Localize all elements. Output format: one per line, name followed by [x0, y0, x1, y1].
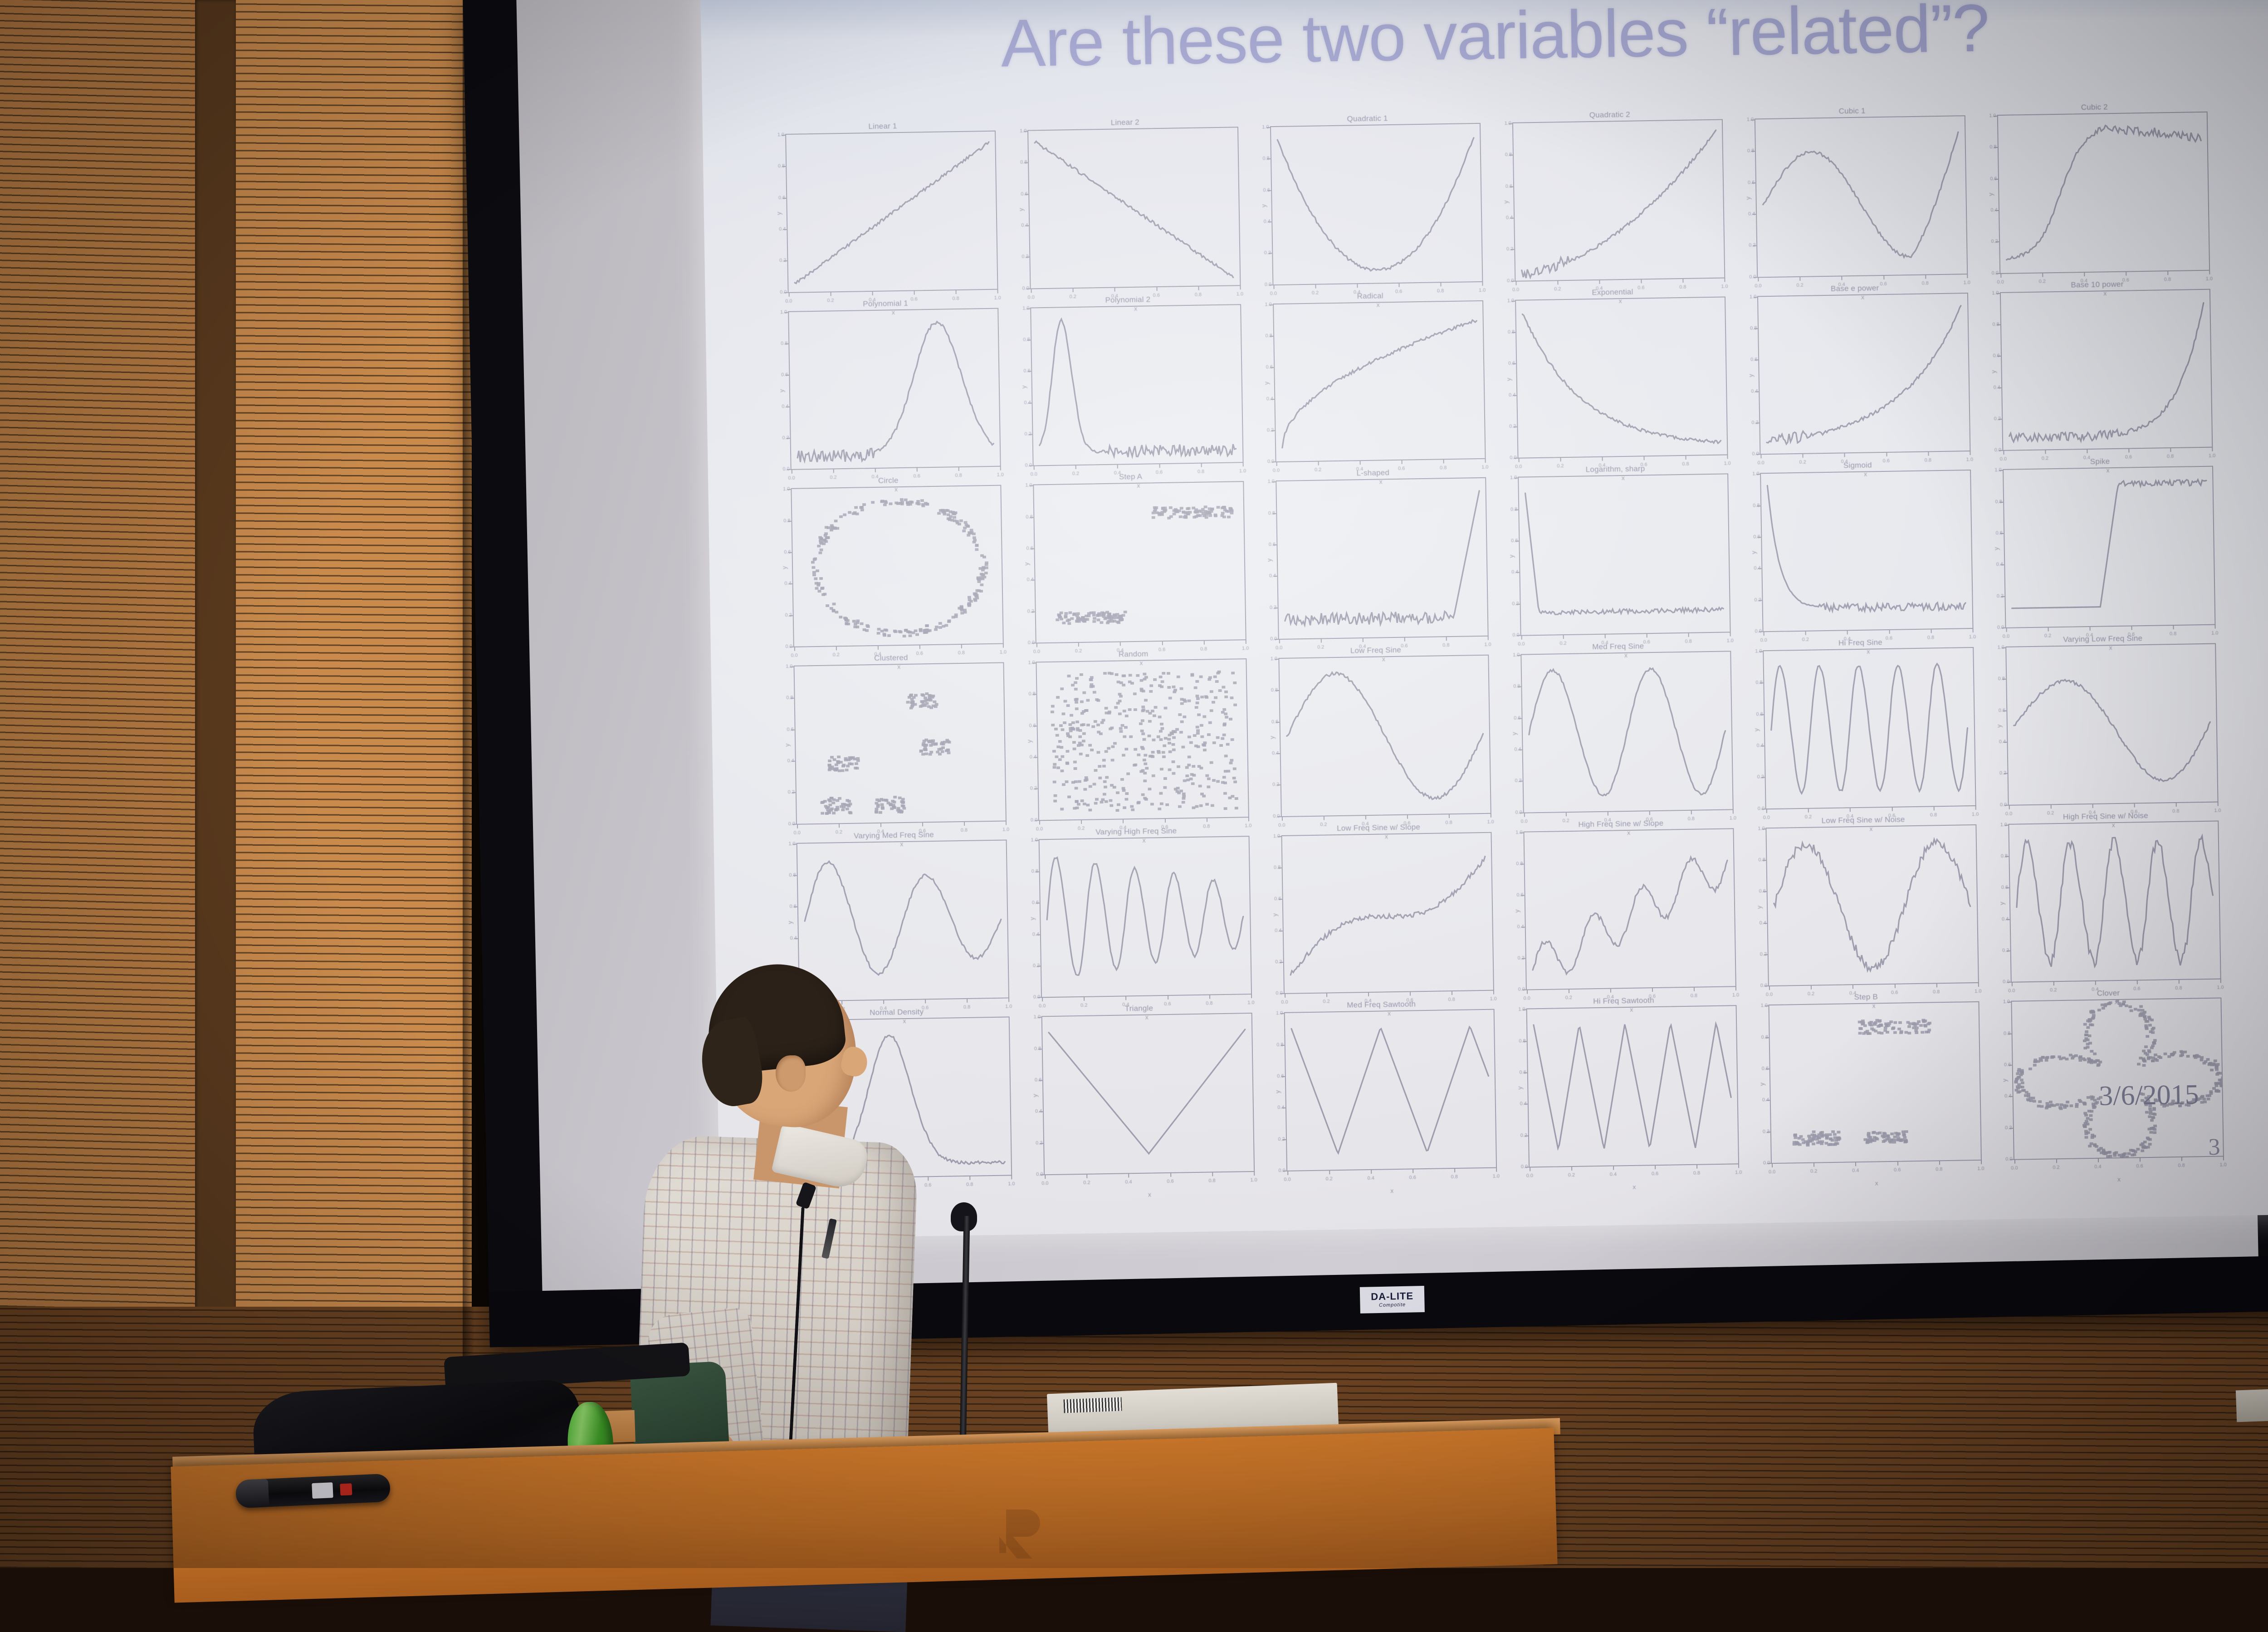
- tick-mark: [1892, 807, 1892, 811]
- plot-panel: Logarithm, sharpy0.00.20.40.60.81.00.00.…: [1502, 462, 1731, 636]
- y-tick-label: 1.0: [1992, 290, 1999, 296]
- plot-panel-title: Quadratic 2: [1589, 109, 1630, 121]
- y-tick-label: 0.6: [778, 195, 785, 201]
- plot-panel-title: Exponential: [1592, 286, 1633, 298]
- plot-y-tick-labels: 0.00.20.40.60.81.0: [1987, 647, 2008, 805]
- y-tick-label: 0.6: [789, 904, 796, 909]
- plot-y-tick-labels: 0.00.20.40.60.81.0: [1748, 828, 1768, 986]
- plot-panel-body: y0.00.20.40.60.81.00.00.20.40.60.81.0x: [1750, 824, 1979, 987]
- tick-mark: [2128, 449, 2129, 453]
- y-tick-label: 0.0: [785, 644, 792, 649]
- plot-axes-box: 0.00.20.40.60.81.00.00.20.40.60.81.0x: [1036, 658, 1249, 821]
- y-tick-label: 0.0: [1991, 270, 1998, 276]
- tick-mark: [1362, 638, 1363, 642]
- y-tick-label: 0.2: [1024, 431, 1031, 437]
- plot-marks: [795, 663, 1006, 824]
- tick-mark: [1853, 985, 1853, 989]
- plot-panel-body: y0.00.20.40.60.81.00.00.20.40.60.81.0x: [770, 131, 998, 293]
- y-tick-label: 0.4: [1264, 219, 1271, 224]
- y-tick-label: 0.4: [1511, 569, 1518, 575]
- y-tick-label: 0.8: [1510, 506, 1517, 512]
- plot-panel: Cubic 2y0.00.20.40.60.81.00.00.20.40.60.…: [1981, 100, 2210, 274]
- x-tick-label: 0.6: [1409, 1175, 1416, 1180]
- y-tick-label: 0.0: [788, 821, 795, 826]
- y-tick-label: 0.0: [1031, 817, 1037, 823]
- plot-marks: [1274, 301, 1485, 462]
- y-tick-label: 0.6: [2004, 1062, 2011, 1068]
- microphone-label: [312, 1482, 333, 1499]
- tick-mark: [2053, 982, 2054, 986]
- tick-mark: [1515, 281, 1516, 285]
- brand-subtitle: Compotite: [1379, 1303, 1406, 1308]
- tick-mark: [1560, 458, 1561, 462]
- y-tick-label: 0.2: [1272, 782, 1279, 787]
- plot-panel-body: y0.00.20.40.60.81.00.00.20.40.60.81.0x: [1745, 470, 1973, 632]
- y-tick-label: 0.4: [1999, 739, 2006, 745]
- tick-mark: [1251, 994, 1252, 998]
- tick-mark: [1125, 996, 1126, 1000]
- tick-mark: [1766, 809, 1767, 813]
- plot-axes-box: 0.00.20.40.60.81.00.00.20.40.60.81.0x: [1518, 474, 1731, 636]
- tick-mark: [1842, 276, 1843, 280]
- y-tick-label: 0.8: [2004, 1030, 2010, 1036]
- x-tick-label: 1.0: [1493, 1173, 1500, 1179]
- plot-axes-box: 0.00.20.40.60.81.00.00.20.40.60.81.0x: [1520, 651, 1734, 813]
- tick-mark: [1569, 989, 1569, 993]
- plot-marks: [1028, 127, 1240, 288]
- brand-name: DA-LITE: [1371, 1291, 1413, 1302]
- plot-panel-title: High Freq Sine w/ Noise: [2063, 810, 2148, 823]
- y-tick-label: 0.0: [1994, 447, 2001, 453]
- plot-axes-box: 0.00.20.40.60.81.00.00.20.40.60.81.0x: [2003, 466, 2216, 628]
- tick-mark: [1813, 1163, 1814, 1167]
- y-tick-label: 0.6: [1508, 361, 1515, 366]
- plot-panel-body: y0.00.20.40.60.81.00.00.20.40.60.81.0x: [1012, 127, 1241, 289]
- plot-axes-box: 0.00.20.40.60.81.00.00.20.40.60.81.0x: [2000, 289, 2213, 451]
- y-tick-label: 0.8: [1992, 322, 1999, 327]
- y-tick-label: 0.0: [1267, 459, 1274, 464]
- y-tick-label: 1.0: [1994, 467, 2001, 473]
- y-tick-label: 0.8: [1755, 680, 1762, 686]
- tick-mark: [1647, 633, 1647, 637]
- plot-x-tick-labels: 0.00.20.40.60.81.0: [1045, 1177, 1254, 1190]
- tick-mark: [2170, 448, 2171, 452]
- plot-marks: [2001, 289, 2212, 450]
- tick-mark: [1446, 637, 1447, 641]
- plot-axes-box: 0.00.20.40.60.81.00.00.20.40.60.81.0x: [1027, 127, 1241, 289]
- plot-panel: Varying Low Freq Siney0.00.20.40.60.81.0…: [1989, 632, 2218, 806]
- tick-mark: [1254, 1171, 1255, 1176]
- x-tick-label: 0.8: [2178, 1163, 2185, 1168]
- plot-panel-title: Cubic 1: [1838, 105, 1865, 118]
- y-tick-label: 0.0: [1278, 1168, 1285, 1173]
- tick-mark: [1168, 995, 1168, 1000]
- plot-y-tick-labels: 0.00.20.40.60.81.0: [1742, 474, 1762, 632]
- plot-panel: Low Freq Siney0.00.20.40.60.81.00.00.20.…: [1263, 643, 1491, 817]
- plot-panel: Step By0.00.20.40.60.81.00.00.20.40.60.8…: [1753, 990, 1981, 1164]
- tick-mark: [969, 1176, 970, 1180]
- plot-panel-title: Random: [1119, 648, 1149, 661]
- tick-mark: [1318, 461, 1319, 466]
- y-tick-label: 0.6: [1035, 1077, 1041, 1083]
- tick-mark: [2218, 802, 2219, 806]
- y-tick-label: 1.0: [1505, 121, 1511, 126]
- y-tick-label: 0.8: [1761, 1034, 1768, 1040]
- tick-mark: [1365, 815, 1366, 819]
- y-tick-label: 0.8: [1268, 510, 1275, 516]
- plot-y-tick-labels: 0.00.20.40.60.81.0: [1266, 1013, 1286, 1171]
- y-tick-label: 0.6: [1516, 892, 1523, 898]
- y-tick-label: 0.8: [2001, 853, 2008, 859]
- tick-mark: [1000, 466, 1001, 470]
- plot-y-tick-labels: 0.00.20.40.60.81.0: [1263, 836, 1283, 994]
- y-tick-label: 0.2: [1036, 1140, 1042, 1146]
- tick-mark: [1519, 458, 1520, 462]
- y-tick-label: 0.0: [1276, 990, 1282, 996]
- tick-mark: [1357, 284, 1358, 288]
- tick-mark: [1928, 452, 1929, 456]
- tick-mark: [1769, 986, 1770, 990]
- plot-y-tick-labels: 0.00.20.40.60.81.0: [1021, 840, 1041, 997]
- plot-y-tick-labels: 0.00.20.40.60.81.0: [1252, 127, 1272, 284]
- y-tick-label: 0.8: [1998, 676, 2005, 681]
- tick-mark: [1012, 1175, 1012, 1179]
- plot-panel-body: y0.00.20.40.60.81.00.00.20.40.60.81.0x: [1742, 293, 1970, 455]
- x-tick-label: 0.6: [1167, 1179, 1173, 1184]
- tick-mark: [1073, 288, 1074, 292]
- y-tick-label: 0.4: [1509, 392, 1515, 397]
- y-tick-label: 0.2: [1991, 239, 1998, 244]
- y-tick-label: 0.8: [1750, 325, 1757, 331]
- tick-mark: [1198, 286, 1199, 290]
- y-tick-label: 0.6: [781, 372, 788, 377]
- y-tick-label: 1.0: [1262, 124, 1269, 130]
- y-tick-label: 0.8: [1747, 148, 1754, 154]
- y-tick-label: 0.8: [1031, 868, 1038, 874]
- plot-panel-body: y0.00.20.40.60.81.00.00.20.40.60.81.0x: [1505, 651, 1734, 813]
- y-tick-label: 0.2: [2002, 948, 2009, 953]
- plot-panel: Varying High Freq Siney0.00.20.40.60.81.…: [1023, 824, 1251, 998]
- y-tick-label: 0.2: [1264, 250, 1271, 255]
- plot-y-tick-labels: 0.00.20.40.60.81.0: [1497, 300, 1517, 458]
- y-tick-label: 0.0: [1033, 995, 1040, 1000]
- plot-axes-box: 0.00.20.40.60.81.00.00.20.40.60.81.0x: [2008, 820, 2221, 983]
- plot-panel-title: Hi Freq Sine: [1838, 637, 1882, 649]
- tick-mark: [1493, 990, 1494, 995]
- plot-axes-box: 0.00.20.40.60.81.00.00.20.40.60.81.0x: [1769, 1001, 1982, 1164]
- y-tick-label: 0.6: [2001, 885, 2008, 890]
- plot-marks: [1767, 825, 1978, 986]
- y-tick-label: 1.0: [1025, 483, 1032, 488]
- y-tick-label: 0.8: [1989, 144, 1996, 150]
- tick-mark: [1162, 641, 1163, 645]
- y-tick-label: 0.2: [1994, 416, 2001, 421]
- plot-panel: Randomy0.00.20.40.60.81.00.00.20.40.60.8…: [1020, 647, 1249, 821]
- plot-panel: Quadratic 2y0.00.20.40.60.81.00.00.20.40…: [1496, 107, 1725, 281]
- plot-axes-box: 0.00.20.40.60.81.00.00.20.40.60.81.0x: [1526, 1005, 1740, 1168]
- y-tick-label: 1.0: [1760, 1003, 1767, 1009]
- y-tick-label: 0.6: [1995, 530, 2002, 536]
- y-tick-label: 0.2: [1997, 593, 2004, 599]
- plot-y-tick-labels: 0.00.20.40.60.81.0: [1508, 1010, 1529, 1167]
- tick-mark: [872, 291, 873, 295]
- y-tick-label: 0.0: [1518, 987, 1525, 992]
- x-tick-label: 1.0: [1735, 1170, 1742, 1175]
- plot-panel-title: Linear 1: [868, 120, 897, 132]
- y-tick-label: 1.0: [780, 309, 787, 315]
- plot-panel: High Freq Sine w/ Slopey0.00.20.40.60.81…: [1508, 816, 1736, 990]
- tick-mark: [2009, 805, 2009, 809]
- tick-mark: [1521, 636, 1522, 640]
- tick-mark: [2003, 451, 2004, 455]
- plot-panel-title: Cubic 2: [2081, 101, 2108, 113]
- y-tick-label: 0.2: [1033, 963, 1040, 968]
- plot-panel-body: y0.00.20.40.60.81.00.00.20.40.60.81.0x: [1263, 655, 1491, 817]
- y-tick-label: 0.4: [784, 581, 791, 586]
- y-tick-label: 0.8: [778, 163, 785, 169]
- tick-mark: [1282, 817, 1283, 821]
- plot-panel: Hi Freq Siney0.00.20.40.60.81.00.00.20.4…: [1747, 635, 1976, 809]
- tick-mark: [2089, 627, 2090, 631]
- tick-mark: [1404, 637, 1405, 642]
- plot-marks: [1037, 659, 1248, 820]
- presenter-ear: [776, 1055, 806, 1092]
- y-tick-label: 0.8: [1516, 861, 1523, 867]
- y-tick-label: 0.6: [1269, 542, 1276, 547]
- tick-mark: [1039, 820, 1040, 824]
- tick-mark: [2050, 804, 2051, 809]
- tick-mark: [1120, 642, 1121, 646]
- plot-panel-title: High Freq Sine w/ Slope: [1578, 817, 1663, 830]
- plot-panel-body: y0.00.20.40.60.81.00.00.20.40.60.81.0x: [1511, 1005, 1740, 1168]
- y-tick-label: 0.0: [1022, 285, 1029, 291]
- tick-mark: [1329, 1170, 1330, 1174]
- y-tick-label: 1.0: [1022, 305, 1029, 311]
- tick-mark: [1482, 281, 1483, 285]
- y-tick-label: 0.4: [1754, 566, 1760, 571]
- y-tick-label: 0.8: [1508, 329, 1515, 335]
- plot-panel: Exponentialy0.00.20.40.60.81.00.00.20.40…: [1500, 284, 1728, 459]
- plot-marks: [1279, 656, 1491, 816]
- tick-mark: [1571, 1166, 1572, 1171]
- tick-mark: [1287, 1171, 1288, 1175]
- tick-mark: [1401, 460, 1402, 464]
- y-tick-label: 0.2: [1278, 1137, 1285, 1142]
- tick-mark: [2134, 803, 2135, 807]
- y-tick-label: 0.4: [779, 226, 786, 232]
- x-tick-label: 0.6: [1894, 1167, 1901, 1173]
- tick-mark: [1203, 641, 1204, 645]
- y-tick-label: 1.0: [1758, 826, 1765, 831]
- y-tick-label: 1.0: [1989, 113, 1996, 118]
- tick-mark: [1566, 812, 1567, 816]
- x-tick-label: 0.2: [1568, 1172, 1575, 1178]
- tick-mark: [1031, 289, 1032, 293]
- plot-y-tick-labels: 0.00.20.40.60.81.0: [1015, 485, 1036, 643]
- tick-mark: [1563, 635, 1564, 639]
- plot-axes-box: 0.00.20.40.60.81.00.00.20.40.60.81.0x: [1041, 1013, 1255, 1175]
- tick-mark: [1206, 818, 1207, 822]
- plot-y-tick-labels: 0.00.20.40.60.81.0: [1736, 119, 1757, 277]
- tick-mark: [1006, 821, 1007, 825]
- tick-mark: [1686, 456, 1686, 460]
- tick-mark: [1889, 630, 1890, 634]
- y-tick-label: 0.8: [1753, 503, 1760, 508]
- tick-mark: [2167, 271, 2168, 275]
- plot-y-tick-labels: 0.00.20.40.60.81.0: [776, 667, 796, 824]
- plot-panel-body: y0.00.20.40.60.81.00.00.20.40.60.81.0x: [1497, 119, 1725, 281]
- plot-panel-title: Med Freq Sine: [1592, 640, 1644, 653]
- plot-axes-box: 0.00.20.40.60.81.00.00.20.40.60.81.0x: [1760, 470, 1973, 632]
- y-tick-label: 0.0: [1507, 278, 1514, 283]
- tick-mark: [2095, 981, 2096, 985]
- plot-panel: Clusteredy0.00.20.40.60.81.00.00.20.40.6…: [778, 651, 1007, 825]
- tick-mark: [1725, 278, 1725, 282]
- tick-mark: [1605, 634, 1606, 638]
- plot-marks: [1764, 648, 1975, 809]
- y-tick-label: 0.0: [1521, 1164, 1528, 1170]
- tick-mark: [1530, 1167, 1530, 1171]
- tick-mark: [2087, 449, 2087, 453]
- y-tick-label: 0.0: [1036, 1171, 1043, 1177]
- y-tick-label: 0.6: [1277, 1073, 1284, 1079]
- tick-mark: [1496, 1168, 1497, 1172]
- plot-marks: [1042, 1014, 1254, 1174]
- plot-panel: Radicaly0.00.20.40.60.81.00.00.20.40.60.…: [1257, 288, 1486, 462]
- plot-y-tick-labels: 0.00.20.40.60.81.0: [770, 312, 790, 470]
- da-lite-brand-logo: DA-LITE Compotite: [1360, 1286, 1425, 1313]
- y-tick-label: 0.4: [1517, 924, 1524, 929]
- tick-mark: [2048, 627, 2048, 631]
- plot-panel-body: y0.00.20.40.60.81.00.00.20.40.60.81.0x: [1255, 123, 1483, 285]
- tick-mark: [1123, 819, 1124, 823]
- tick-mark: [919, 645, 920, 649]
- tick-mark: [2084, 272, 2085, 276]
- x-tick-label: 0.2: [1810, 1168, 1817, 1174]
- plot-marks: [1761, 470, 1972, 631]
- tick-mark: [1844, 453, 1845, 457]
- plot-axes-box: 0.00.20.40.60.81.00.00.20.40.60.81.0x: [1755, 115, 1968, 278]
- x-tick-label: 0.2: [1083, 1180, 1090, 1186]
- y-tick-label: 0.2: [2005, 1125, 2012, 1130]
- plot-marks: [1285, 1010, 1496, 1171]
- plot-y-tick-labels: 0.00.20.40.60.81.0: [1494, 123, 1515, 281]
- y-tick-label: 0.0: [1997, 625, 2004, 630]
- y-tick-label: 0.6: [1021, 191, 1027, 196]
- y-tick-label: 1.0: [786, 664, 792, 669]
- tick-mark: [1811, 985, 1812, 990]
- y-tick-label: 0.2: [787, 789, 794, 795]
- plot-panel-body: y0.00.20.40.60.81.00.00.20.40.60.81.0x: [1500, 296, 1728, 459]
- plot-panel-title: Hi Freq Sawtooth: [1593, 995, 1654, 1007]
- y-tick-label: 0.2: [1512, 601, 1519, 606]
- plot-panel-title: Quadratic 1: [1347, 113, 1388, 125]
- plot-panel-title: Base e power: [1831, 282, 1879, 295]
- tick-mark: [1933, 806, 1934, 810]
- tick-mark: [1599, 279, 1600, 284]
- y-tick-label: 0.6: [1511, 538, 1518, 544]
- y-tick-label: 0.6: [1993, 353, 1999, 358]
- plot-panel-title: Spike: [2090, 456, 2110, 468]
- plot-panel: Med Freq Sawtoothy0.00.20.40.60.81.00.00…: [1268, 997, 1497, 1171]
- tick-mark: [922, 822, 923, 826]
- tick-mark: [2006, 628, 2007, 632]
- x-tick-label: 1.0: [1008, 1181, 1015, 1186]
- y-tick-label: 0.8: [1505, 152, 1512, 157]
- y-tick-label: 0.2: [1760, 951, 1767, 957]
- y-tick-label: 0.4: [1024, 400, 1031, 405]
- tick-mark: [1939, 1161, 1940, 1165]
- plot-y-tick-labels: 0.00.20.40.60.81.0: [1505, 832, 1525, 990]
- plot-panel-body: y0.00.20.40.60.81.00.00.20.40.60.81.0x: [1021, 658, 1249, 821]
- tick-mark: [1368, 992, 1369, 996]
- tick-mark: [1320, 639, 1321, 643]
- tick-mark: [831, 292, 831, 296]
- barcode-label-icon: [1063, 1397, 1122, 1413]
- tick-mark: [1209, 995, 1210, 999]
- tick-mark: [1772, 1163, 1773, 1167]
- tick-mark: [797, 824, 798, 828]
- x-tick-label: 0.4: [1852, 1168, 1859, 1173]
- tick-mark: [1644, 456, 1645, 461]
- tick-mark: [961, 644, 962, 648]
- plot-marks: [1521, 652, 1733, 812]
- y-tick-label: 0.4: [1027, 577, 1034, 583]
- y-tick-label: 0.8: [789, 872, 796, 878]
- tick-mark: [1886, 452, 1887, 456]
- y-tick-label: 0.0: [1515, 809, 1522, 815]
- plot-marks: [1282, 833, 1493, 993]
- y-tick-label: 1.0: [1755, 648, 1762, 654]
- tick-mark: [2092, 804, 2093, 808]
- y-tick-label: 0.6: [1271, 719, 1278, 725]
- tick-mark: [839, 823, 840, 828]
- tick-mark: [1972, 628, 1973, 632]
- y-tick-label: 0.2: [782, 435, 789, 441]
- plot-panel: High Freq Sine w/ Noisey0.00.20.40.60.81…: [1993, 809, 2221, 983]
- plot-panel-title: Polynomial 2: [1105, 294, 1150, 306]
- plot-panel-body: y0.00.20.40.60.81.00.00.20.40.60.81.0x: [1257, 300, 1486, 462]
- tick-mark: [1440, 282, 1441, 286]
- y-tick-label: 0.4: [1990, 207, 1997, 213]
- tick-mark: [1764, 632, 1765, 636]
- tick-mark: [1413, 1169, 1413, 1173]
- y-tick-label: 0.2: [1515, 778, 1521, 784]
- plot-panel: Low Freq Sine w/ Slopey0.00.20.40.60.81.…: [1266, 820, 1494, 994]
- tick-mark: [1087, 1174, 1088, 1178]
- tick-mark: [1981, 1160, 1982, 1164]
- tick-mark: [2011, 982, 2012, 986]
- y-tick-label: 1.0: [2003, 999, 2010, 1005]
- plot-marks: [1519, 475, 1730, 635]
- y-tick-label: 0.0: [1512, 632, 1519, 638]
- plot-axes-box: 0.00.20.40.60.81.00.00.20.40.60.81.0x: [2005, 643, 2219, 806]
- tick-mark: [1527, 990, 1528, 994]
- y-tick-label: 0.8: [1276, 1042, 1283, 1048]
- y-tick-label: 0.0: [2000, 802, 2007, 807]
- y-tick-label: 0.4: [1021, 223, 1028, 228]
- plot-panel-title: L-shaped: [1356, 467, 1389, 479]
- x-tick-label: 0.8: [1451, 1174, 1458, 1180]
- tick-mark: [875, 468, 876, 472]
- plot-panel-title: Polynomial 1: [863, 297, 908, 310]
- tick-mark: [1276, 462, 1277, 466]
- plot-x-axis-label: x: [1772, 1178, 1981, 1188]
- plot-y-tick-labels: 0.00.20.40.60.81.0: [767, 135, 787, 292]
- y-tick-label: 0.2: [1022, 254, 1028, 260]
- plot-axes-box: 0.00.20.40.60.81.00.00.20.40.60.81.0x: [1763, 647, 1976, 809]
- plot-marks: [1031, 305, 1243, 466]
